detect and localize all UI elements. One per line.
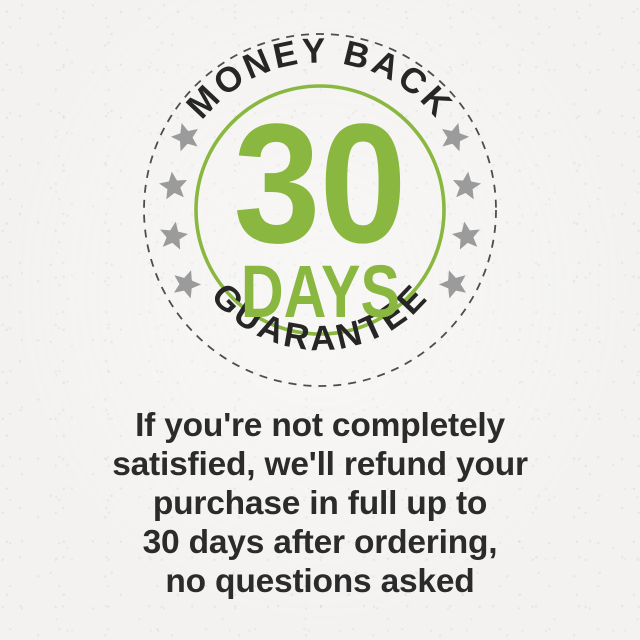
guarantee-badge-graphic: MONEY BACK GUARANTEE 30 DAYS If you're n…: [0, 0, 640, 640]
promise-line: 30 days after ordering,: [50, 523, 590, 562]
badge-bottom-arc-text: GUARANTEE: [204, 276, 436, 359]
star-icon: [158, 219, 190, 250]
star-icon: [451, 170, 482, 200]
star-icon: [437, 119, 472, 153]
promise-line: satisfied, we'll refund your: [50, 445, 590, 484]
promise-line: purchase in full up to: [50, 484, 590, 523]
badge-top-arc-text: MONEY BACK: [179, 32, 461, 126]
guarantee-promise-text: If you're not completely satisfied, we'l…: [50, 406, 590, 601]
star-icon: [450, 219, 482, 250]
promise-line: If you're not completely: [50, 406, 590, 445]
star-icon: [169, 266, 204, 301]
money-back-guarantee-badge: MONEY BACK GUARANTEE 30 DAYS: [142, 32, 498, 388]
star-icon: [436, 266, 471, 301]
promise-line: no questions asked: [50, 562, 590, 601]
star-icon: [168, 119, 203, 153]
star-icon: [158, 170, 189, 200]
